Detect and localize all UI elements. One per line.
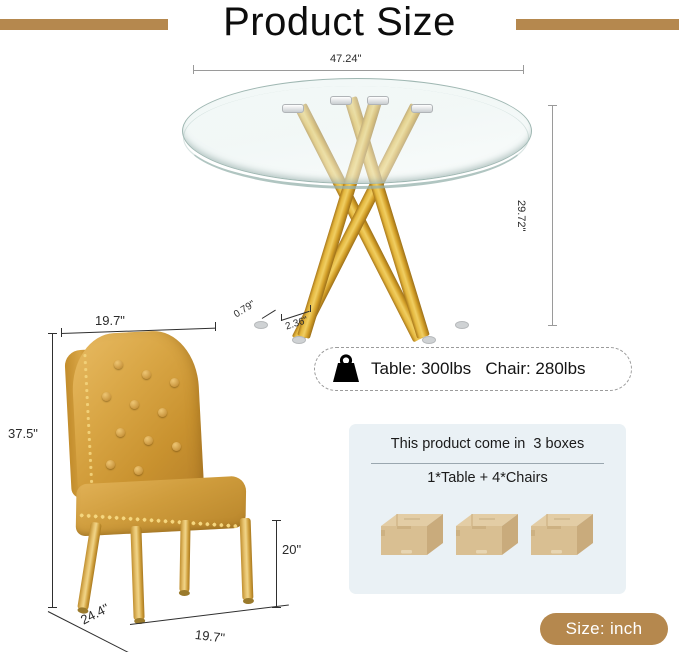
chair-width-tick-right xyxy=(215,322,216,331)
table-height-tick-top xyxy=(548,105,557,106)
packaging-title: This product come in 3 boxes xyxy=(349,436,626,452)
table-width-line xyxy=(193,70,524,71)
header: Product Size xyxy=(0,0,679,48)
chair-tuft-button xyxy=(144,436,153,445)
chair-height-line xyxy=(52,333,53,608)
leg-bracket-1 xyxy=(282,104,304,113)
chair-seat-height-label: 20" xyxy=(282,542,301,557)
table-foot-3 xyxy=(292,336,306,344)
packaging-contents: 1*Table + 4*Chairs xyxy=(349,470,626,486)
weight-icon xyxy=(329,354,363,384)
chair-leg-rear-right xyxy=(179,520,190,592)
carton-box xyxy=(529,508,595,560)
leg-bracket-2 xyxy=(411,104,433,113)
chair-tuft-button xyxy=(170,378,179,387)
table-height-tick-bottom xyxy=(548,325,557,326)
chair-tuft-button xyxy=(106,460,115,469)
leg-width-tick-right xyxy=(310,305,311,312)
chair-width-label: 19.7" xyxy=(95,313,125,328)
table-width-tick-right xyxy=(523,65,524,74)
size-unit-label: Size: inch xyxy=(566,619,643,639)
chair-tuft-button xyxy=(130,400,139,409)
chair-bottom-width-label: 19.7" xyxy=(194,627,226,646)
leg-bracket-4 xyxy=(367,96,389,105)
table-width-label: 47.24" xyxy=(330,53,361,65)
chair-height-tick-bottom xyxy=(48,607,57,608)
chair-seat-height-line xyxy=(276,520,277,608)
chair-tuft-button xyxy=(158,408,167,417)
chair-leg-front-right xyxy=(240,518,254,600)
chair-leg-front-left xyxy=(130,526,144,620)
dining-chair-illustration xyxy=(58,332,278,620)
chair-tuft-button xyxy=(134,466,143,475)
table-height-line xyxy=(552,105,553,325)
chair-height-tick-top xyxy=(48,333,57,334)
table-width-tick-left xyxy=(193,65,194,74)
weight-capacity-text: Table: 300lbs Chair: 280lbs xyxy=(371,359,586,379)
leg-bracket-3 xyxy=(330,96,352,105)
leg-width-tick-left xyxy=(281,314,282,321)
glass-dining-table-illustration xyxy=(182,78,538,328)
page-title: Product Size xyxy=(0,0,679,46)
chair-tuft-button xyxy=(142,370,151,379)
weight-capacity-badge: Table: 300lbs Chair: 280lbs xyxy=(314,347,632,391)
chair-tuft-button xyxy=(172,442,181,451)
packaging-panel: This product come in 3 boxes 1*Table + 4… xyxy=(349,424,626,594)
chair-seat-height-tick-top xyxy=(272,520,281,521)
product-size-infographic: Product Size 47.24" 29.72" 0.79" xyxy=(0,0,679,652)
chair-tuft-button xyxy=(102,392,111,401)
chair-tuft-button xyxy=(116,428,125,437)
carton-box xyxy=(454,508,520,560)
size-unit-badge: Size: inch xyxy=(540,613,668,645)
chair-height-label: 37.5" xyxy=(8,426,38,441)
table-foot-1 xyxy=(254,321,268,329)
carton-box xyxy=(379,508,445,560)
packaging-divider xyxy=(371,463,604,464)
chair-tuft-button xyxy=(114,360,123,369)
glass-table-edge xyxy=(183,86,529,189)
table-foot-2 xyxy=(455,321,469,329)
table-foot-4 xyxy=(422,336,436,344)
